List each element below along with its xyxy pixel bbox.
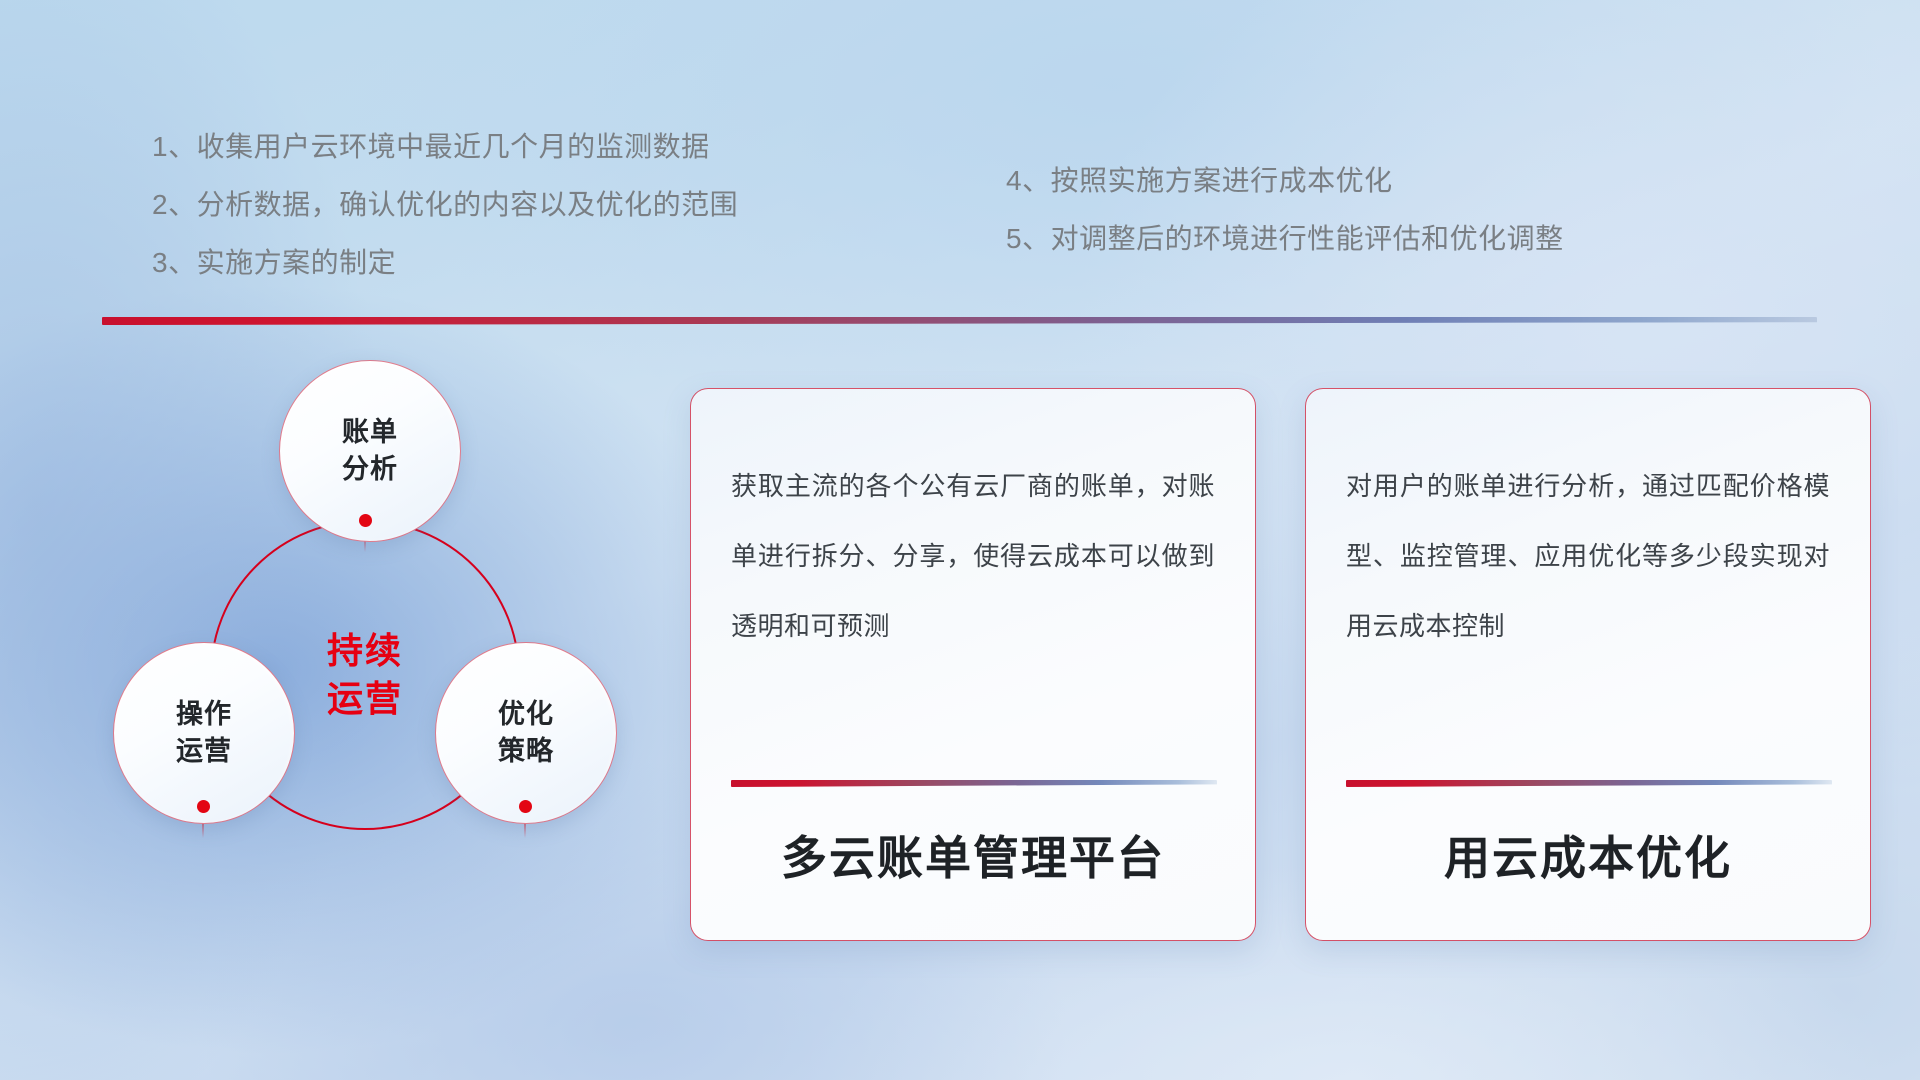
step-item-4: 4、按照实施方案进行成本优化 <box>1006 152 1564 210</box>
cycle-node-billing-analysis-line1: 账单 <box>342 414 398 451</box>
feature-card-title: 用云成本优化 <box>1306 822 1870 888</box>
feature-card-body: 获取主流的各个公有云厂商的账单，对账单进行拆分、分享，使得云成本可以做到透明和可… <box>731 451 1215 661</box>
step-item-1: 1、收集用户云环境中最近几个月的监测数据 <box>152 118 738 176</box>
cycle-center-label: 持续 运营 <box>210 520 520 830</box>
feature-card-cloud-cost-optimization[interactable]: 对用户的账单进行分析，通过匹配价格模型、监控管理、应用优化等多少段实现对用云成本… <box>1305 388 1871 941</box>
feature-card-multicloud-billing[interactable]: 获取主流的各个公有云厂商的账单，对账单进行拆分、分享，使得云成本可以做到透明和可… <box>690 388 1256 941</box>
steps-section: 1、收集用户云环境中最近几个月的监测数据 2、分析数据，确认优化的内容以及优化的… <box>0 0 1920 300</box>
card-divider <box>731 780 1217 787</box>
feature-card-title: 多云账单管理平台 <box>691 822 1255 888</box>
step-item-5: 5、对调整后的环境进行性能评估和优化调整 <box>1006 210 1564 268</box>
feature-card-body: 对用户的账单进行分析，通过匹配价格模型、监控管理、应用优化等多少段实现对用云成本… <box>1346 451 1830 661</box>
step-item-2: 2、分析数据，确认优化的内容以及优化的范围 <box>152 176 738 234</box>
connector-dot-left <box>197 800 210 813</box>
step-item-3: 3、实施方案的制定 <box>152 234 738 292</box>
card-divider <box>1346 780 1832 787</box>
cycle-node-billing-analysis[interactable]: 账单 分析 <box>279 360 461 542</box>
steps-column-right: 4、按照实施方案进行成本优化 5、对调整后的环境进行性能评估和优化调整 <box>1006 152 1564 268</box>
cycle-center-label-line2: 运营 <box>327 675 403 723</box>
cycle-diagram: 账单 分析 操作 运营 优化 策略 持续 运营 <box>95 360 655 940</box>
connector-dot-top <box>359 514 372 527</box>
cycle-node-billing-analysis-line2: 分析 <box>342 451 398 488</box>
cycle-center-label-line1: 持续 <box>327 627 403 675</box>
steps-column-left: 1、收集用户云环境中最近几个月的监测数据 2、分析数据，确认优化的内容以及优化的… <box>152 118 738 292</box>
connector-dot-right <box>519 800 532 813</box>
